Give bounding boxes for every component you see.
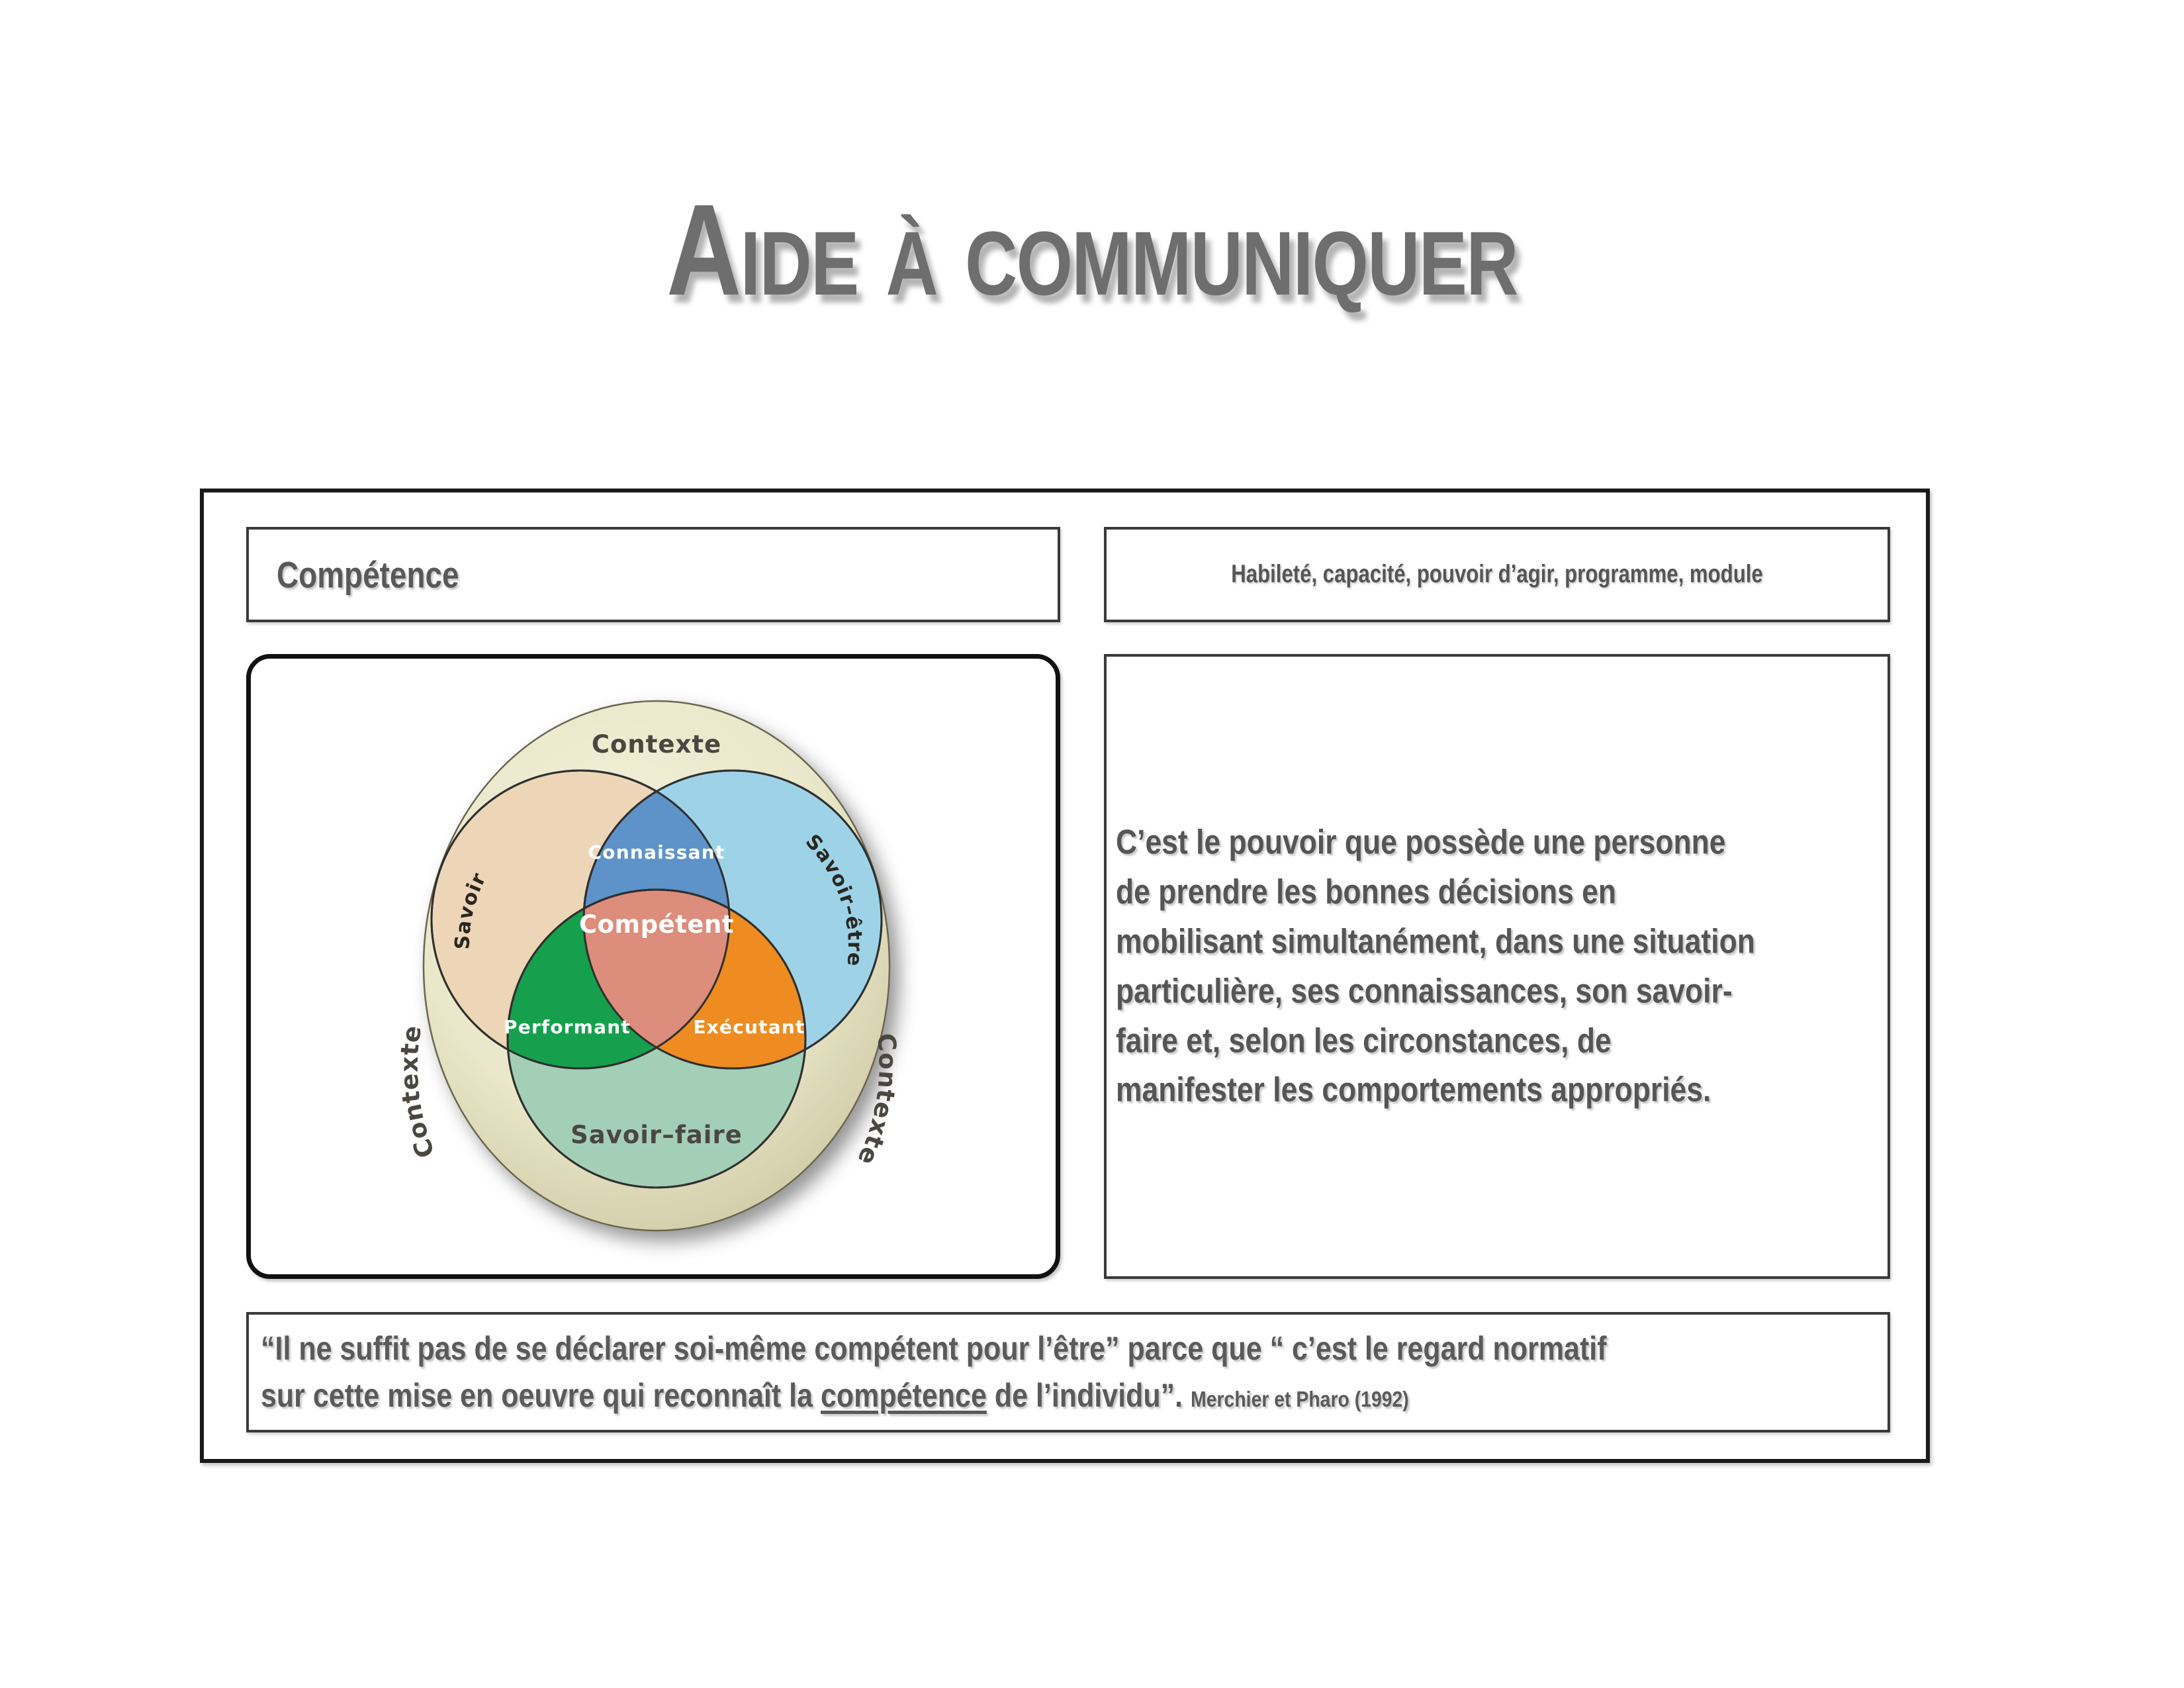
venn-diagram-box: Contexte Contexte Contexte Savoir Savoir… [246, 654, 1060, 1279]
performant-label: Performant [504, 1016, 631, 1038]
synonyms-label: Habileté, capacité, pouvoir d’agir, prog… [1177, 561, 1817, 589]
term-label: Compétence [277, 553, 459, 596]
quote-citation: Merchier et Pharo (1992) [1191, 1387, 1409, 1411]
quote-part2: de l’individu”. [987, 1377, 1183, 1414]
page-title: Aide à communiquer [218, 185, 1966, 315]
executant-label: Exécutant [693, 1016, 805, 1038]
competent-label: Compétent [579, 910, 734, 939]
synonyms-box: Habileté, capacité, pouvoir d’agir, prog… [1104, 527, 1890, 622]
savoir-faire-label: Savoir–faire [570, 1121, 743, 1149]
venn-diagram: Contexte Contexte Contexte Savoir Savoir… [322, 668, 991, 1264]
term-box: Compétence [246, 527, 1060, 622]
connaissant-label: Connaissant [588, 841, 725, 863]
quote-box: “Il ne suffit pas de se déclarer soi-mêm… [246, 1312, 1890, 1432]
definition-box: C’est le pouvoir que possède une personn… [1104, 654, 1890, 1279]
quote-text: “Il ne suffit pas de se déclarer soi-mêm… [261, 1325, 1649, 1419]
content-frame: Compétence Habileté, capacité, pouvoir d… [200, 489, 1930, 1463]
quote-underlined-term: compétence [821, 1377, 987, 1414]
definition-text: C’est le pouvoir que possède une personn… [1116, 818, 1756, 1115]
contexte-top-label: Contexte [592, 730, 721, 759]
